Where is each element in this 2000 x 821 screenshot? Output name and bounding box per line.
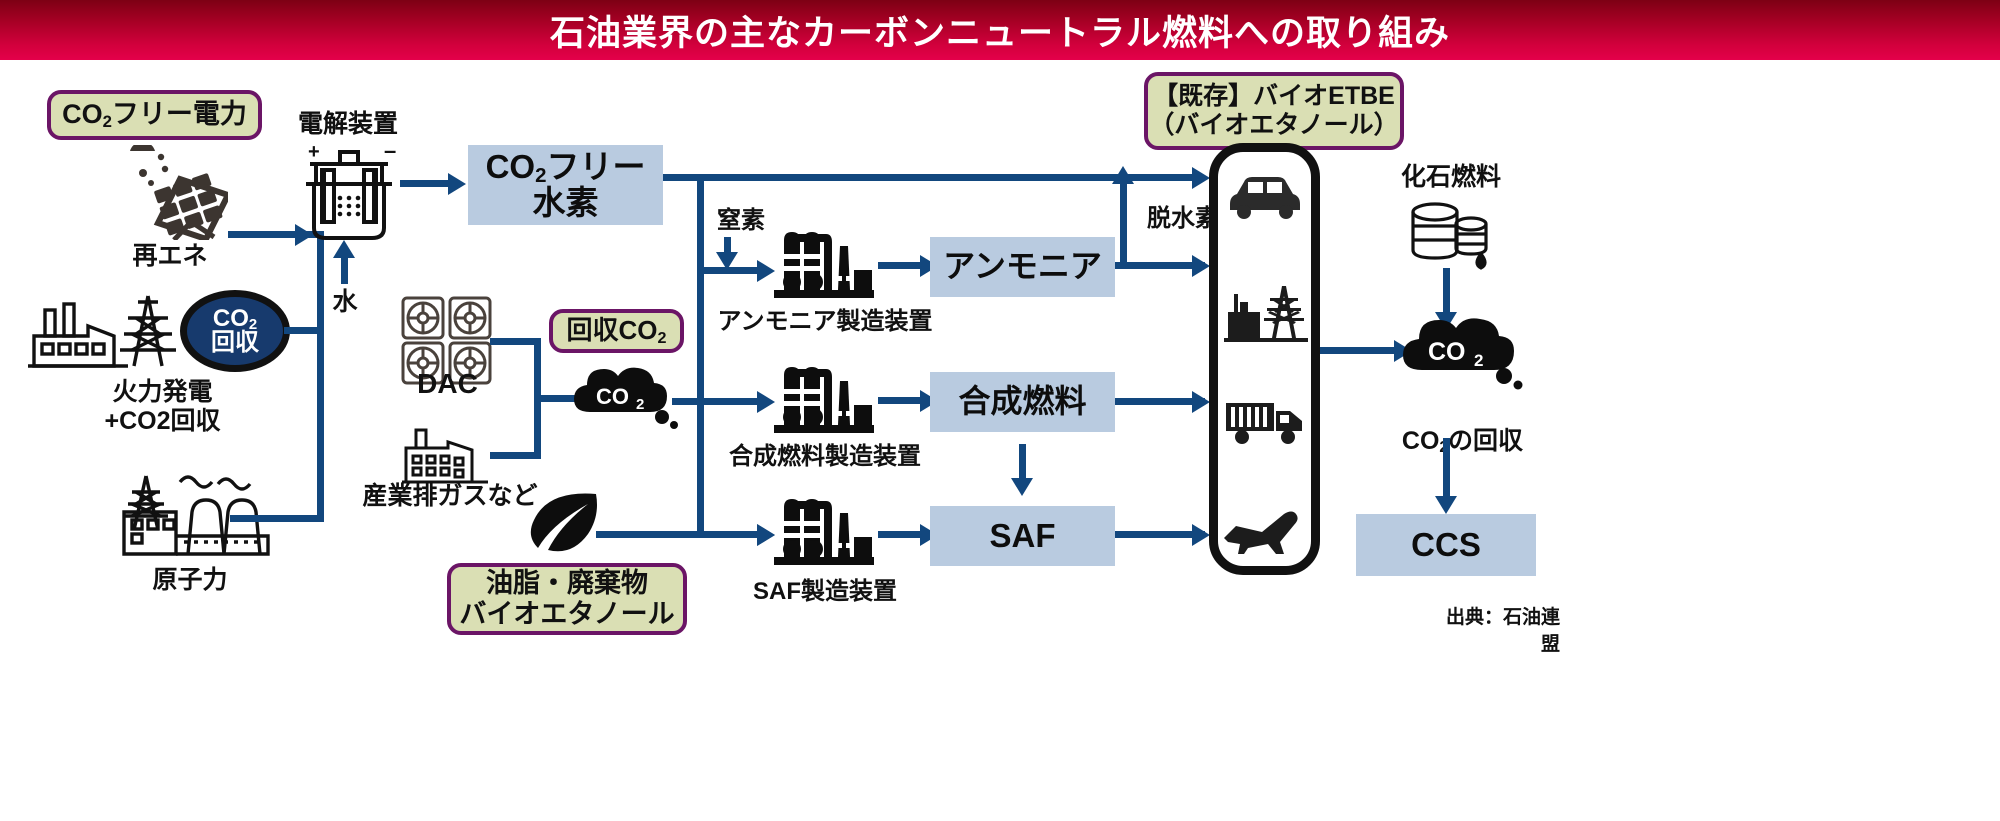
truck-icon [1224, 395, 1308, 447]
connector-co2-to-synfuel [672, 398, 767, 405]
box-co2-free-hydrogen: CO2フリー水素 [468, 145, 663, 225]
caption-fossil-fuel: 化石燃料 [1376, 163, 1526, 192]
co2-cloud-icon: CO 2 [570, 362, 685, 430]
svg-text:2: 2 [636, 396, 644, 413]
airplane-icon [1222, 508, 1310, 556]
connector-left-bus-v [317, 231, 324, 522]
saf-plant-icon [770, 495, 875, 573]
connector-fossil-to-co2 [1443, 268, 1450, 316]
connector-nuclear-h [230, 515, 324, 522]
arrowhead-ammonia-vehicles [1192, 255, 1210, 277]
caption-industrial-exhaust: 産業排ガスなど [355, 482, 545, 511]
caption-water: 水 [305, 288, 385, 317]
solar-panel-icon [118, 145, 228, 240]
connector-water-v [341, 254, 348, 284]
infographic-canvas: 石油業界の主なカーボンニュートラル燃料への取り組み CO2フリー電力 [0, 0, 2000, 821]
caption-dac: DAC [395, 368, 500, 400]
svg-text:2: 2 [1474, 351, 1483, 370]
title-bar: 石油業界の主なカーボンニュートラル燃料への取り組み [0, 0, 2000, 60]
industry-powerline-icon [1224, 282, 1308, 342]
arrowhead-saf-vehicles [1192, 524, 1210, 546]
caption-ammonia-plant: アンモニア製造装置 [700, 308, 950, 336]
arrowhead-water [333, 240, 355, 258]
caption-renewable: 再エネ [100, 242, 240, 271]
connector-synfuel-to-saf-v [1019, 444, 1026, 482]
label-oil-waste-bioethanol: 油脂・廃棄物 バイオエタノール [447, 563, 687, 635]
caption-co2-recovery: CO2の回収 [1370, 398, 1555, 456]
caption-thermal-ccs: 火力発電 +CO2回収 [55, 378, 270, 436]
box-co2-free-hydrogen-text: CO2フリー水素 [486, 149, 646, 222]
caption-synfuel-plant: 合成燃料製造装置 [700, 443, 950, 471]
badge-co2-line1: CO2 [213, 307, 257, 331]
svg-text:CO: CO [596, 384, 629, 409]
arrowhead-h2-vehicles [1192, 167, 1210, 189]
electrolyzer-icon: + – [296, 142, 401, 242]
arrowhead-co2-ccs [1435, 496, 1457, 514]
connector-electrolyzer-to-h2 [400, 180, 452, 187]
arrowhead-synfuel-vehicles [1192, 391, 1210, 413]
caption-co2-recovery-text: CO2の回収 [1402, 427, 1523, 455]
arrowhead-dehydro-up [1112, 166, 1134, 184]
svg-text:–: – [384, 142, 396, 163]
box-ccs: CCS [1356, 514, 1536, 576]
arrowhead-bio-safplant [757, 524, 775, 546]
page-title: 石油業界の主なカーボンニュートラル燃料への取り組み [550, 5, 1450, 56]
car-icon [1224, 170, 1306, 222]
leaf-icon [520, 490, 600, 552]
synfuel-plant-icon [770, 363, 875, 441]
arrowhead-h2 [448, 173, 466, 195]
box-saf: SAF [930, 506, 1115, 566]
label-bio-etbe: 【既存】バイオETBE （バイオエタノール） [1144, 72, 1404, 150]
connector-bio-to-safplant [596, 531, 766, 538]
label-co2-free-power-text: CO2フリー電力 [62, 99, 247, 130]
badge-co2-capture: CO2 回収 [180, 290, 290, 372]
svg-text:CO: CO [1428, 338, 1466, 366]
source-note: 出典：石油連盟 [1430, 602, 1560, 815]
caption-electrolyzer: 電解装置 [268, 110, 428, 139]
co2-cloud-icon-right: CO 2 [1398, 312, 1528, 390]
label-recovered-co2: 回収CO2 [549, 309, 684, 353]
svg-text:+: + [308, 142, 320, 163]
label-co2-free-power: CO2フリー電力 [47, 90, 262, 140]
arrowhead-nitrogen [716, 252, 738, 270]
thermal-plant-icon [28, 288, 203, 373]
ammonia-plant-icon [770, 228, 875, 306]
caption-nuclear: 原子力 [110, 566, 270, 595]
badge-co2-line2: 回収 [211, 331, 259, 355]
box-synthetic-fuel: 合成燃料 [930, 372, 1115, 432]
label-recovered-co2-text: 回収CO2 [567, 316, 667, 346]
connector-h2-bus-v2 [697, 267, 704, 405]
oil-drum-icon [1405, 198, 1500, 270]
connector-dehydro-v [1120, 177, 1127, 269]
connector-dac-h [490, 338, 540, 345]
arrowhead-synfuel-saf [1011, 478, 1033, 496]
connector-co2-to-ccs [1443, 438, 1450, 500]
factory-icon [402, 424, 492, 486]
connector-exhaust-h [490, 452, 540, 459]
caption-saf-plant: SAF製造装置 [725, 578, 925, 606]
box-ammonia: アンモニア [930, 237, 1115, 297]
